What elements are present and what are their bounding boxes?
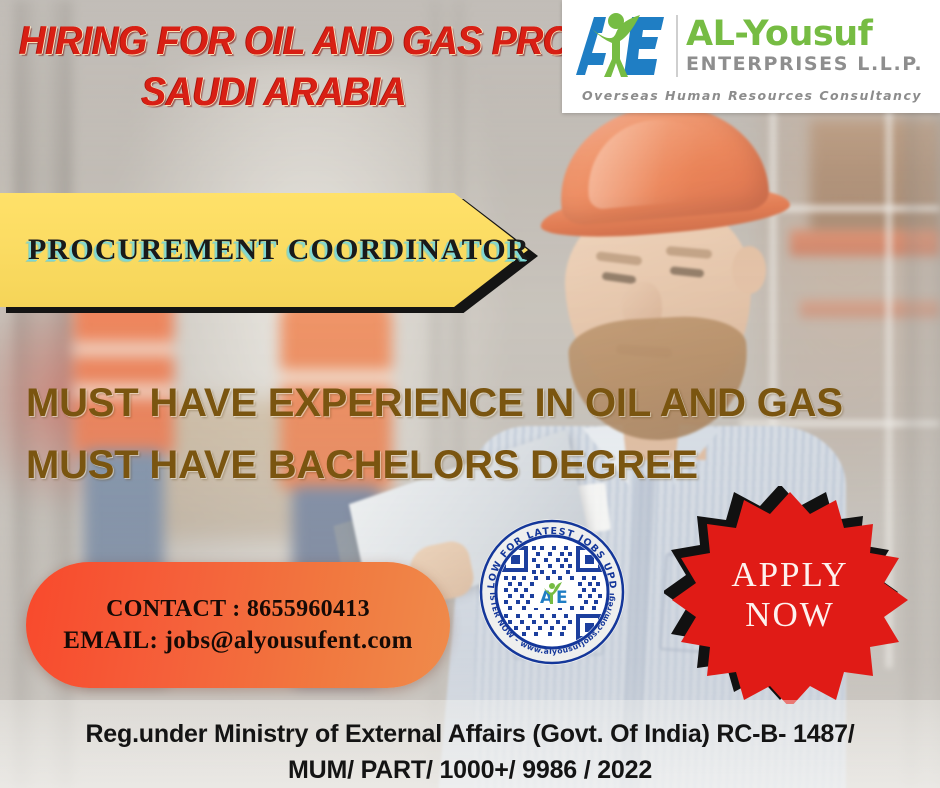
registration-footer: Reg.under Ministry of External Affairs (…	[0, 716, 940, 788]
qr-code-badge[interactable]: FOLLOW FOR LATEST JOBS UPDATE REGISTER N…	[478, 518, 626, 666]
footer-line-1: Reg.under Ministry of External Affairs (…	[0, 716, 940, 752]
requirements-list: MUST HAVE EXPERIENCE IN OIL AND GAS MUST…	[26, 372, 843, 496]
contact-phone[interactable]: CONTACT : 8655960413	[106, 596, 370, 623]
logo-divider	[676, 15, 678, 77]
aye-monogram-icon	[572, 9, 668, 83]
apply-now-badge[interactable]: APPLY NOW	[664, 486, 916, 704]
contact-email[interactable]: EMAIL: jobs@alyousufent.com	[63, 627, 412, 655]
company-logo-card: AL-Yousuf ENTERPRISES L.L.P. Overseas Hu…	[562, 0, 940, 113]
qr-center-logo: A E	[534, 580, 570, 608]
recruitment-poster: HIRING FOR OIL AND GAS PROJECT SAUDI ARA…	[0, 0, 940, 788]
position-banner: PROCUREMENT COORDINATOR	[0, 193, 532, 307]
headline-line-1: HIRING FOR OIL AND GAS PROJECT	[19, 16, 529, 67]
contact-pill[interactable]: CONTACT : 8655960413 EMAIL: jobs@alyousu…	[26, 562, 450, 688]
requirement-item: MUST HAVE EXPERIENCE IN OIL AND GAS	[26, 372, 843, 434]
footer-line-2: MUM/ PART/ 1000+/ 9986 / 2022	[0, 752, 940, 788]
position-title: PROCUREMENT COORDINATOR	[28, 193, 530, 307]
company-tagline: Overseas Human Resources Consultancy	[572, 88, 932, 103]
svg-text:E: E	[556, 588, 568, 608]
company-entity-type: ENTERPRISES L.L.P.	[686, 55, 923, 74]
headline-line-2: SAUDI ARABIA	[19, 67, 529, 118]
company-name: AL-Yousuf	[686, 17, 923, 52]
poster-headline: HIRING FOR OIL AND GAS PROJECT SAUDI ARA…	[19, 16, 529, 118]
